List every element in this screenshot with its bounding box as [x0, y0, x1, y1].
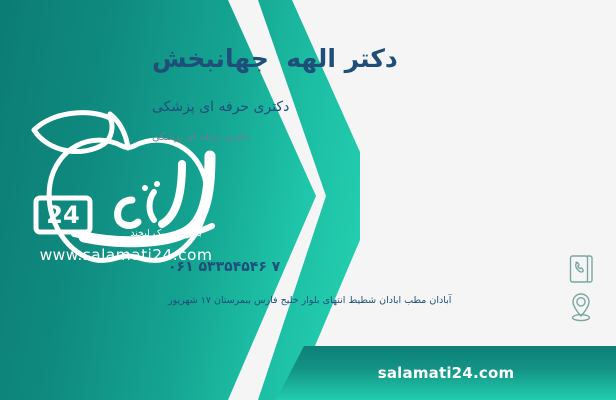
map-pin-icon [564, 290, 598, 324]
footer-site-label[interactable]: salamati24.com [276, 346, 616, 400]
svg-text:24: 24 [46, 201, 79, 229]
footer-bar: salamati24.com [276, 346, 616, 400]
clinic-address: آبادان مطب ابادان شطیط انتهای بلوار خلیج… [168, 290, 564, 309]
contact-row-address[interactable]: آبادان مطب ابادان شطیط انتهای بلوار خلیج… [168, 290, 598, 324]
doctor-profile-card: 24 به راحتی یک لبخند www.salamati24.com … [0, 0, 616, 400]
page-title: دکتر الهه جهانبخش [152, 44, 592, 73]
phone-book-icon [564, 252, 598, 286]
specialty-secondary: دکتری حرفه ای پزشکی [152, 132, 592, 143]
phone-number: ۷ ۵۳۳۵۴۵۴۶ ۰۶۱ [168, 252, 564, 275]
contact-row-phone[interactable]: ۷ ۵۳۳۵۴۵۴۶ ۰۶۱ [168, 252, 598, 286]
specialty-primary: دکتری حرفه ای پزشکی [152, 99, 592, 115]
logo-tagline: به راحتی یک لبخند [96, 228, 236, 239]
